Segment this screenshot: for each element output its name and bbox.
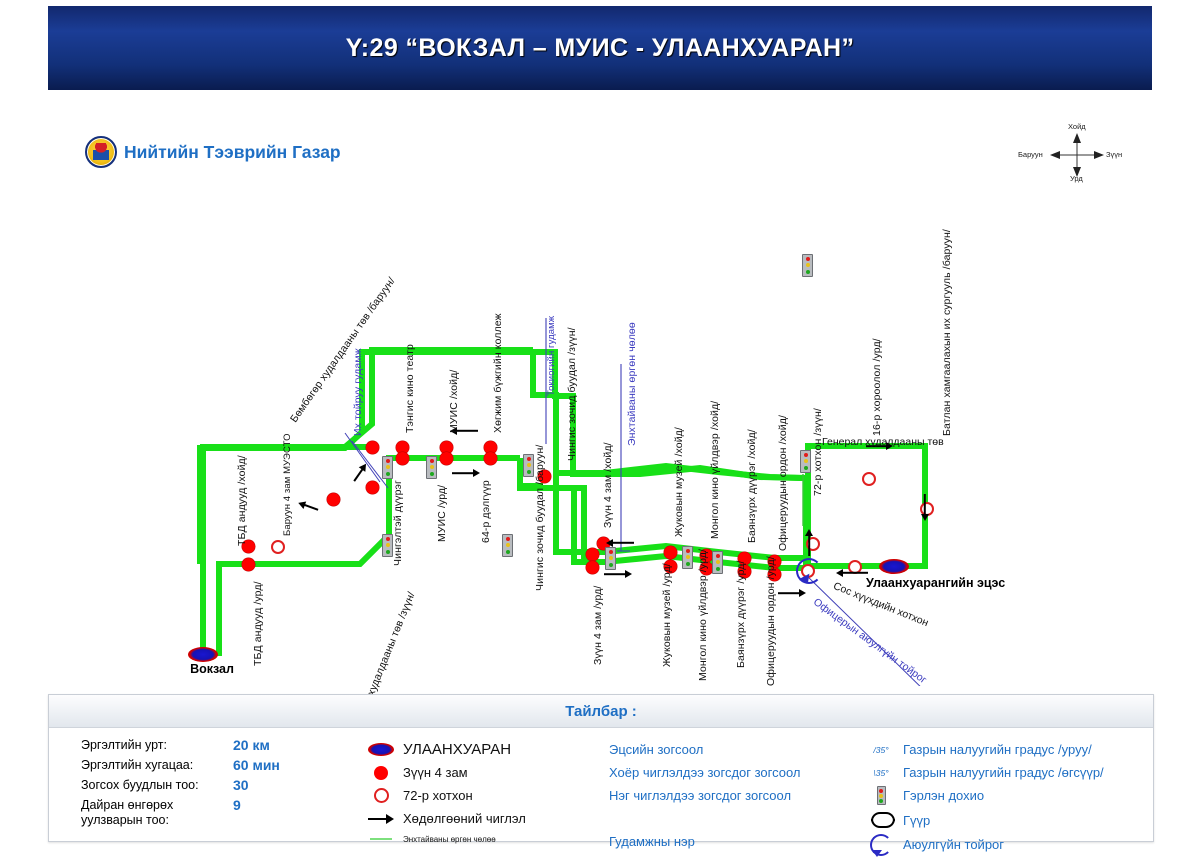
terminus-label-ulaankhuaran: Улаанхуарангийн эцэс [866,576,996,590]
stop-label-oneway: 16-р хороолол /урд/ [871,338,883,436]
bridge-icon [859,812,903,828]
stop-marker-oneway[interactable] [271,540,285,554]
stop-label-oneway: Батлан хамгаалахын их сургууль /баруун/ [941,229,953,436]
legend-item-label: 72-р хотхон [403,788,473,803]
legend-item: Гүүр [859,807,1149,833]
title-bar: Y:29 “ВОКЗАЛ – МУИС - УЛААНХУАРАН” [48,6,1152,90]
legend-item: Эцсийн зогсоол [609,738,859,761]
direction-arrow-icon [604,538,634,548]
legend-item-label: Нэг чиглэлдээ зогсдог зогсоол [609,788,791,803]
slope-up-mark: \35° [873,768,888,778]
traffic-light-icon [682,546,693,569]
legend-header: Тайлбар : [49,695,1153,728]
direction-arrow-icon [834,568,868,578]
direction-arrow-icon [452,468,482,478]
legend-item: Гудамжны нэр [609,830,859,853]
legend-item-label: Эцсийн зогсоол [609,742,703,757]
legend-item: Хөдөлгөөний чиглэл [359,807,609,830]
traffic-light-icon [800,450,811,473]
legend-item-label: Гэрлэн дохио [903,788,984,803]
legend-item: Энхтайваны өргөн чөлөө [359,830,609,848]
legend-item-label: Энхтайваны өргөн чөлөө [403,835,496,844]
traffic-light-icon [523,454,534,477]
legend-item-label: Аюулгүйн тойрог [903,837,1004,852]
stop-marker-oneway[interactable] [862,472,876,486]
legend-item-spacer [609,807,859,830]
black-arrow-icon [359,814,403,824]
traffic-light-icon [802,254,813,277]
stop-label: Монгол кино үйлдвэр /хойд/ [709,401,721,539]
stop-label: Жуковын музей /хойд/ [673,427,685,537]
stop-label: Баянзүрх дүүрэг /урд/ [735,560,747,668]
hollow-red-circle-icon [359,788,403,803]
terminus-label-vokzal: Вокзал [182,662,242,676]
legend-item: 72-р хотхон [359,784,609,807]
stop-label: Баянзүрх дүүрэг /хойд/ [746,429,758,543]
traffic-light-icon [605,547,616,570]
legend-item-label: Хоёр чиглэлдээ зогсдог зогсоол [609,765,801,780]
direction-arrow-icon [604,569,634,579]
stop-label: ТБД андууд /хойд/ [236,455,248,546]
traffic-light-icon [382,456,393,479]
stop-marker[interactable] [440,452,453,465]
stop-marker[interactable] [586,561,599,574]
stop-marker[interactable] [327,493,340,506]
legend-item: Хоёр чиглэлдээ зогсдог зогсоол [609,761,859,784]
legend-item-label: Зүүн 4 зам [403,765,468,780]
stat-value: 9 [233,798,241,813]
legend-stats: Эргэлтийн урт: 20 км Эргэлтийн хугацаа: … [49,738,359,838]
street-label: Их тойруу гудамж [352,348,364,436]
stop-label: МУИС /урд/ [436,485,448,542]
stat-label: Дайран өнгөрөх уулзварын тоо: [81,798,233,828]
roundabout-icon [796,558,822,584]
legend-item-label: Газрын налуугийн градус /уруу/ [903,742,1092,757]
stop-marker[interactable] [242,558,255,571]
stop-marker[interactable] [664,546,677,559]
stat-label: Эргэлтийн хугацаа: [81,758,233,773]
stop-label-oneway: Баруун 4 зам МУЭСТО [282,433,293,536]
legend-stop-types: Эцсийн зогсоол Хоёр чиглэлдээ зогсдог зо… [609,738,859,838]
stat-label: Эргэлтийн урт: [81,738,233,753]
direction-arrow-icon [804,528,814,556]
slope-down-mark: /35° [873,745,888,755]
stop-marker[interactable] [366,481,379,494]
route-map: Нийтийн Тээврийн Газар Хойд Урд Зүүн Бар… [0,96,1200,686]
traffic-light-icon [859,786,903,805]
legend-item-label: УЛААНХУАРАН [403,741,511,758]
stop-label-oneway: 72-р хотхон /зүүн/ [812,408,824,496]
stop-marker[interactable] [396,452,409,465]
stop-marker[interactable] [586,548,599,561]
stat-value: 20 км [233,738,270,753]
stop-label: Монгол кино үйлдвэр /урд/ [697,549,709,681]
slope-up-icon: \35° [859,768,903,778]
stat-row: Дайран өнгөрөх уулзварын тоо: 9 [81,798,359,828]
filled-red-dot-icon [359,766,403,780]
page-title: Y:29 “ВОКЗАЛ – МУИС - УЛААНХУАРАН” [346,34,855,63]
legend-item-label: Газрын налуугийн градус /өгсүүр/ [903,765,1104,780]
stop-label-oneway: Генерал худалдааны төв [822,436,944,448]
legend-item: Аюулгүйн тойрог [859,833,1149,856]
stop-label: Чингис зочид буудал /зүүн/ [566,327,578,461]
stop-label: Офицеруудын ордон /урд/ [765,556,777,686]
legend-item: Гэрлэн дохио [859,784,1149,807]
street-label: Токиогийн гудамж [546,316,557,396]
stop-label: Тэнгис кино театр [404,344,416,433]
stop-marker[interactable] [484,452,497,465]
legend-map-symbols: /35° Газрын налуугийн градус /уруу/ \35°… [859,738,1149,838]
stat-label: Зогсох буудлын тоо: [81,778,233,793]
stop-marker[interactable] [366,441,379,454]
legend-item-label: Гүүр [903,813,930,828]
legend-item: УЛААНХУАРАН [359,738,609,761]
stop-label: ТБД андууд /урд/ [252,581,264,666]
stop-label: 64-р дэлгүүр [480,480,492,543]
stop-label: Зүүн 4 зам /хойд/ [602,442,614,528]
green-line-icon [359,838,403,840]
traffic-light-icon [712,551,723,574]
stop-label: Жуковын музей /урд/ [661,563,673,667]
direction-arrow-icon [778,588,808,598]
legend-body: Эргэлтийн урт: 20 км Эргэлтийн хугацаа: … [49,728,1153,838]
stat-value: 30 [233,778,249,793]
stat-row: Эргэлтийн хугацаа: 60 мин [81,758,359,773]
traffic-light-icon [502,534,513,557]
stop-label: Чингис зочид буудал /баруун/ [534,445,546,591]
street-label: Энхтайваны өргөн чөлөө [626,322,638,446]
legend-symbols: УЛААНХУАРАН Зүүн 4 зам 72-р хотхон Хөдөл… [359,738,609,838]
roundabout-icon [859,834,903,856]
terminus-ellipse-icon [359,743,403,756]
legend-panel: Тайлбар : Эргэлтийн урт: 20 км Эргэлтийн… [48,694,1154,842]
stop-label: МУИС /хойд/ [448,370,460,433]
stat-row: Эргэлтийн урт: 20 км [81,738,359,753]
terminus-marker-ulaankhuaran[interactable] [879,559,909,574]
terminus-marker-vokzal[interactable] [188,647,218,662]
legend-item-label: Хөдөлгөөний чиглэл [403,811,526,826]
traffic-light-icon [426,456,437,479]
stop-label: Офицеруудын ордон /хойд/ [777,415,789,551]
legend-item: Нэг чиглэлдээ зогсдог зогсоол [609,784,859,807]
slope-down-icon: /35° [859,745,903,755]
stop-label: Зүүн 4 зам /урд/ [592,586,604,665]
stat-row: Зогсох буудлын тоо: 30 [81,778,359,793]
legend-item-label: Гудамжны нэр [609,834,695,849]
legend-item: Зүүн 4 зам [359,761,609,784]
stop-label: Чингэлтэй дүүрэг [392,480,404,566]
legend-item: \35° Газрын налуугийн градус /өгсүүр/ [859,761,1149,784]
legend-item: /35° Газрын налуугийн градус /уруу/ [859,738,1149,761]
stat-value: 60 мин [233,758,280,773]
legend-title: Тайлбар : [565,703,637,720]
stop-label: Хөгжим бүжгийн коллеж [492,313,504,433]
direction-arrow-icon [920,494,930,522]
